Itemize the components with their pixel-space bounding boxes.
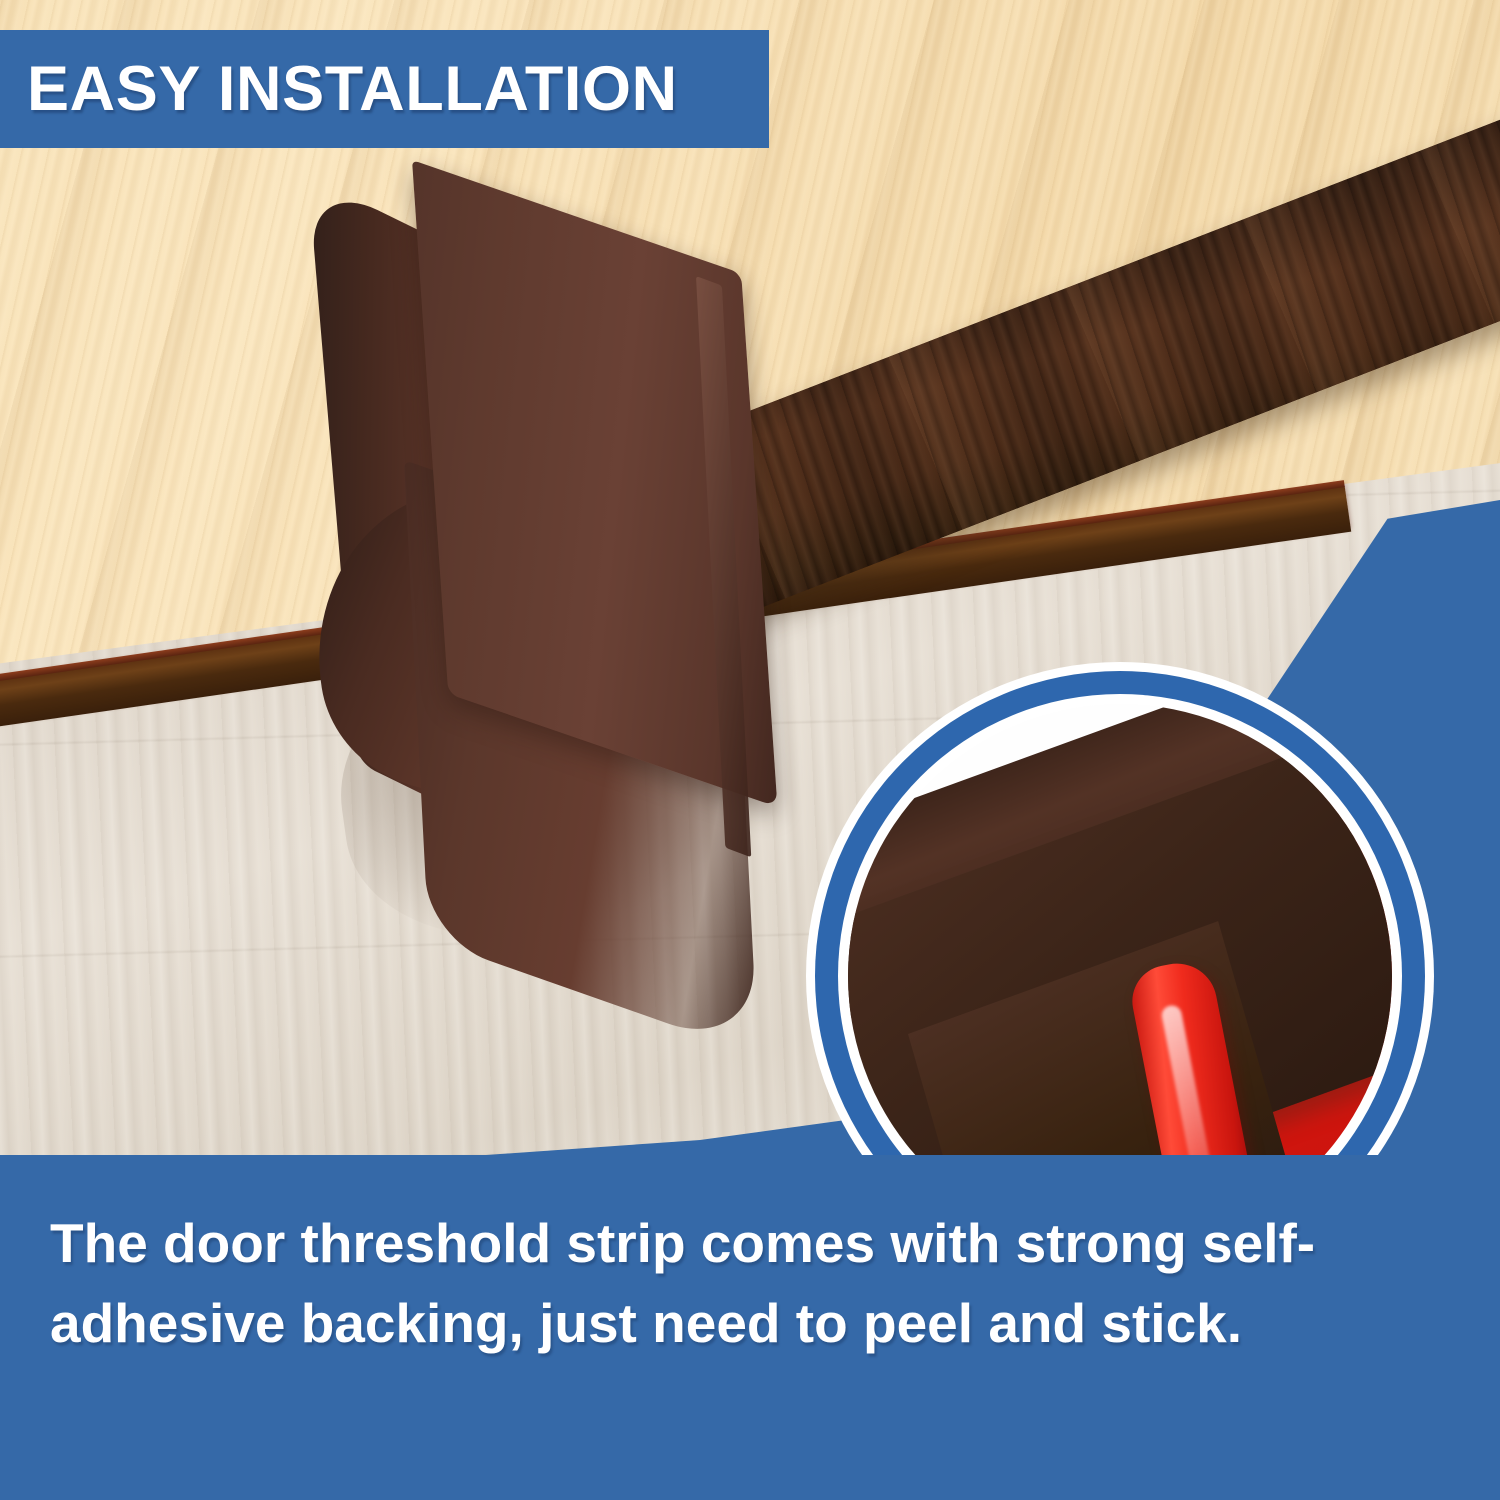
- caption-panel: The door threshold strip comes with stro…: [0, 1155, 1500, 1500]
- caption-text: The door threshold strip comes with stro…: [0, 1155, 1500, 1363]
- product-marketing-image: EASY INSTALLATION The door threshold str…: [0, 0, 1500, 1500]
- threshold-strip-end: [300, 160, 800, 850]
- headline-banner: EASY INSTALLATION: [0, 30, 769, 148]
- headline-text: EASY INSTALLATION: [0, 58, 678, 121]
